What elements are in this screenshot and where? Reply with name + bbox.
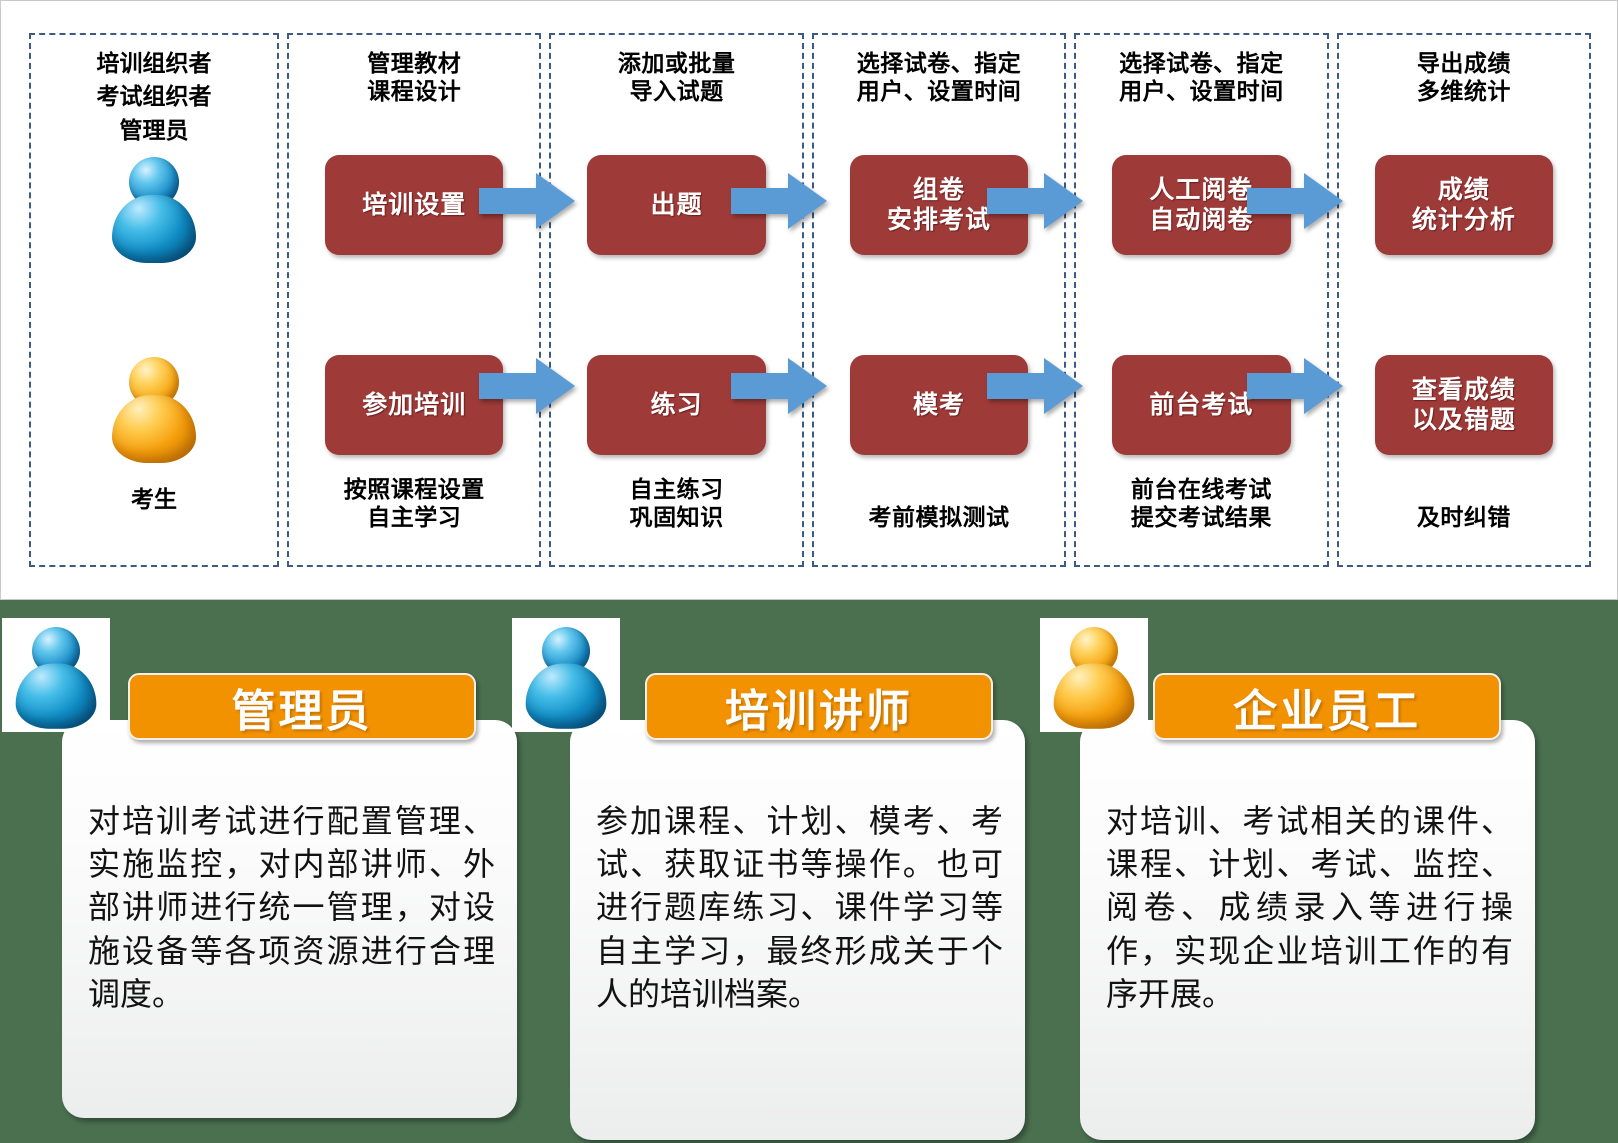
actor-examinee-label: 考生: [31, 480, 277, 514]
arrow-right-icon-2: [731, 171, 827, 231]
step-box-score-analysis[interactable]: 成绩 统计分析: [1375, 155, 1553, 255]
flow-column-5: 导出成绩 多维统计 成绩 统计分析 查看成绩 以及错题 及时纠错: [1337, 33, 1591, 567]
role-card-3-badge: 企业员工: [1153, 673, 1501, 740]
step-box-training-setup[interactable]: 培训设置: [325, 155, 503, 255]
arrow-right-icon-4: [1247, 171, 1343, 231]
role-card-1-badge: 管理员: [128, 673, 476, 740]
step-box-view-scores[interactable]: 查看成绩 以及错题: [1375, 355, 1553, 455]
arrow-right-icon-6: [731, 356, 827, 416]
flow-columns: 培训组织者 考试组织者 管理员 考生 管理教材 课程设计 培训设置 参加培训 按…: [29, 33, 1591, 567]
flow-column-4: 选择试卷、指定 用户、设置时间 人工阅卷 自动阅卷 前台考试 前台在线考试 提交…: [1074, 33, 1328, 567]
column-2-caption-bottom: 自主练习 巩固知识: [551, 475, 801, 531]
step-box-join-training[interactable]: 参加培训: [325, 355, 503, 455]
orange-buddy-icon: [110, 355, 198, 465]
role-card-2[interactable]: 参加课程、计划、模考、考试、获取证书等操作。也可进行题库练习、课件学习等自主学习…: [570, 720, 1025, 1140]
flow-column-actors: 培训组织者 考试组织者 管理员 考生: [29, 33, 279, 567]
arrow-right-icon-7: [987, 356, 1083, 416]
role-card-2-avatar: [512, 618, 620, 732]
role-card-2-badge: 培训讲师: [645, 673, 993, 740]
role-card-2-description: 参加课程、计划、模考、考试、获取证书等操作。也可进行题库练习、课件学习等自主学习…: [596, 800, 1003, 1016]
flow-column-3: 选择试卷、指定 用户、设置时间 组卷 安排考试 模考 考前模拟测试: [812, 33, 1066, 567]
column-5-caption-bottom: 及时纠错: [1339, 503, 1589, 531]
flow-column-1: 管理教材 课程设计 培训设置 参加培训 按照课程设置 自主学习: [287, 33, 541, 567]
role-cards-panel: 对培训考试进行配置管理、实施监控，对内部讲师、外部讲师进行统一管理，对设施设备等…: [0, 600, 1618, 1143]
column-3-caption-bottom: 考前模拟测试: [814, 503, 1064, 531]
column-4-caption-top: 选择试卷、指定 用户、设置时间: [1076, 49, 1326, 105]
flow-column-2: 添加或批量 导入试题 出题 练习 自主练习 巩固知识: [549, 33, 803, 567]
role-card-1-avatar: [2, 618, 110, 732]
role-card-3-avatar: [1040, 618, 1148, 732]
process-flow-panel: 培训组织者 考试组织者 管理员 考生 管理教材 课程设计 培训设置 参加培训 按…: [0, 0, 1618, 600]
role-card-1[interactable]: 对培训考试进行配置管理、实施监控，对内部讲师、外部讲师进行统一管理，对设施设备等…: [62, 720, 517, 1118]
role-card-1-description: 对培训考试进行配置管理、实施监控，对内部讲师、外部讲师进行统一管理，对设施设备等…: [88, 800, 495, 1016]
blue-buddy-icon: [110, 155, 198, 265]
arrow-right-icon-3: [987, 171, 1083, 231]
role-card-3[interactable]: 对培训、考试相关的课件、课程、计划、考试、监控、阅卷、成绩录入等进行操作，实现企…: [1080, 720, 1535, 1140]
column-5-caption-top: 导出成绩 多维统计: [1339, 49, 1589, 105]
column-1-caption-top: 管理教材 课程设计: [289, 49, 539, 105]
arrow-right-icon-8: [1247, 356, 1343, 416]
role-card-3-description: 对培训、考试相关的课件、课程、计划、考试、监控、阅卷、成绩录入等进行操作，实现企…: [1106, 800, 1513, 1016]
arrow-right-icon-1: [479, 171, 575, 231]
actor-roles-title: 培训组织者 考试组织者 管理员: [31, 47, 277, 147]
column-2-caption-top: 添加或批量 导入试题: [551, 49, 801, 105]
column-1-caption-bottom: 按照课程设置 自主学习: [289, 475, 539, 531]
column-3-caption-top: 选择试卷、指定 用户、设置时间: [814, 49, 1064, 105]
arrow-right-icon-5: [479, 356, 575, 416]
column-4-caption-bottom: 前台在线考试 提交考试结果: [1076, 475, 1326, 531]
